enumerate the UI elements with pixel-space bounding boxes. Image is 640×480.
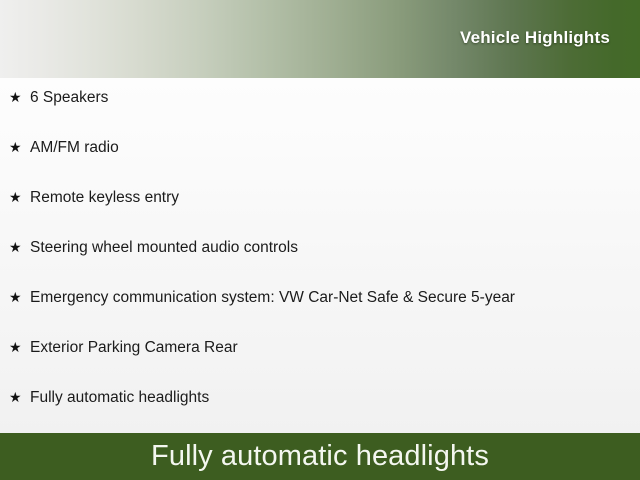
page-title: Vehicle Highlights — [460, 28, 640, 48]
highlight-label: Fully automatic headlights — [30, 390, 640, 406]
slide-header: Vehicle Highlights — [0, 0, 640, 78]
highlight-label: Exterior Parking Camera Rear — [30, 340, 640, 356]
highlights-list: ★ 6 Speakers ★ AM/FM radio ★ Remote keyl… — [0, 90, 640, 433]
star-bullet-icon: ★ — [9, 341, 30, 355]
highlight-label: AM/FM radio — [30, 140, 640, 156]
highlight-label: Emergency communication system: VW Car-N… — [30, 290, 640, 306]
star-bullet-icon: ★ — [9, 241, 30, 255]
star-bullet-icon: ★ — [9, 191, 30, 205]
star-bullet-icon: ★ — [9, 391, 30, 405]
list-item: ★ Exterior Parking Camera Rear — [0, 340, 640, 390]
vehicle-highlights-slide: Vehicle Highlights ★ 6 Speakers ★ AM/FM … — [0, 0, 640, 480]
star-bullet-icon: ★ — [9, 91, 30, 105]
highlight-label: Remote keyless entry — [30, 190, 640, 206]
list-item: ★ AM/FM radio — [0, 140, 640, 190]
list-item: ★ Steering wheel mounted audio controls — [0, 240, 640, 290]
highlight-label: Steering wheel mounted audio controls — [30, 240, 640, 256]
list-item: ★ 6 Speakers — [0, 90, 640, 140]
list-item: ★ Remote keyless entry — [0, 190, 640, 240]
highlights-panel: ★ 6 Speakers ★ AM/FM radio ★ Remote keyl… — [0, 78, 640, 433]
list-item: ★ Emergency communication system: VW Car… — [0, 290, 640, 340]
list-item: ★ Fully automatic headlights — [0, 390, 640, 433]
slide-footer: Fully automatic headlights — [0, 433, 640, 480]
footer-caption: Fully automatic headlights — [151, 442, 489, 471]
star-bullet-icon: ★ — [9, 291, 30, 305]
star-bullet-icon: ★ — [9, 141, 30, 155]
highlight-label: 6 Speakers — [30, 90, 640, 106]
